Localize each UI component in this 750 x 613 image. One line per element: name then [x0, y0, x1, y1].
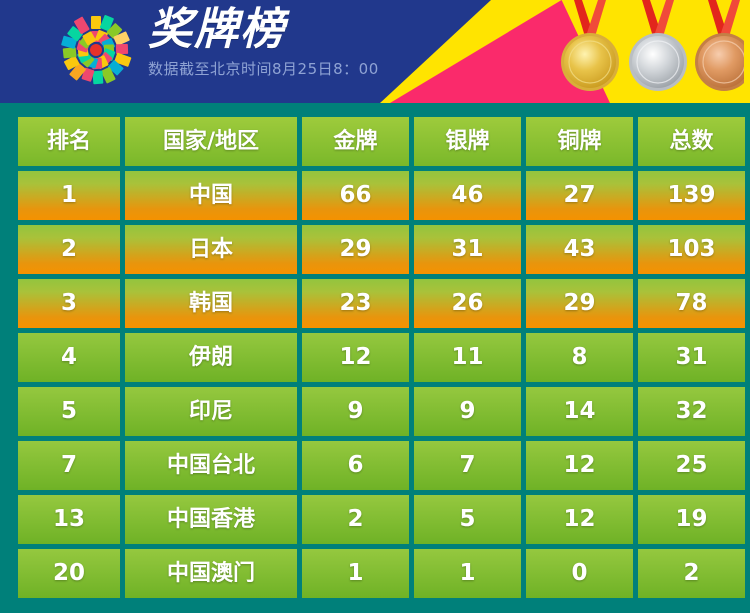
- cell-rank: 7: [18, 441, 120, 490]
- cell-gold: 12: [302, 333, 409, 382]
- medal-standings-page: 奖牌榜 数据截至北京时间8月25日8：00: [0, 0, 750, 589]
- cell-total: 25: [638, 441, 745, 490]
- cell-gold: 6: [302, 441, 409, 490]
- cell-bronze: 12: [526, 441, 633, 490]
- cell-silver: 7: [414, 441, 521, 490]
- table-row[interactable]: 3韩国23262978: [18, 279, 732, 328]
- cell-gold: 29: [302, 225, 409, 274]
- cell-rank: 5: [18, 387, 120, 436]
- cell-country: 中国: [125, 171, 297, 220]
- cell-total: 78: [638, 279, 745, 328]
- silver-medal: [629, 33, 687, 91]
- cell-total: 32: [638, 387, 745, 436]
- cell-country: 韩国: [125, 279, 297, 328]
- cell-bronze: 12: [526, 495, 633, 544]
- table-header-row: 排名 国家/地区 金牌 银牌 铜牌 总数: [18, 117, 732, 166]
- table-row[interactable]: 7中国台北671225: [18, 441, 732, 490]
- cell-silver: 11: [414, 333, 521, 382]
- table-row[interactable]: 4伊朗1211831: [18, 333, 732, 382]
- cell-total: 2: [638, 549, 745, 598]
- cell-total: 139: [638, 171, 745, 220]
- cell-country: 伊朗: [125, 333, 297, 382]
- cell-rank: 13: [18, 495, 120, 544]
- cell-silver: 31: [414, 225, 521, 274]
- table-row[interactable]: 20中国澳门1102: [18, 549, 732, 598]
- bronze-medal: [695, 33, 744, 91]
- cell-silver: 46: [414, 171, 521, 220]
- medals-illustration: [544, 0, 744, 96]
- page-title: 奖牌榜: [148, 4, 379, 56]
- column-header-gold: 金牌: [302, 117, 409, 166]
- column-header-silver: 银牌: [414, 117, 521, 166]
- cell-bronze: 0: [526, 549, 633, 598]
- cell-silver: 1: [414, 549, 521, 598]
- cell-total: 31: [638, 333, 745, 382]
- header-title-block: 奖牌榜 数据截至北京时间8月25日8：00: [148, 4, 379, 79]
- cell-silver: 26: [414, 279, 521, 328]
- cell-bronze: 27: [526, 171, 633, 220]
- cell-bronze: 8: [526, 333, 633, 382]
- table-row[interactable]: 5印尼991432: [18, 387, 732, 436]
- cell-gold: 23: [302, 279, 409, 328]
- table-row[interactable]: 1中国664627139: [18, 171, 732, 220]
- cell-gold: 1: [302, 549, 409, 598]
- column-header-total: 总数: [638, 117, 745, 166]
- cell-country: 日本: [125, 225, 297, 274]
- cell-gold: 66: [302, 171, 409, 220]
- cell-rank: 2: [18, 225, 120, 274]
- table-row[interactable]: 13中国香港251219: [18, 495, 732, 544]
- cell-silver: 5: [414, 495, 521, 544]
- cell-bronze: 14: [526, 387, 633, 436]
- cell-rank: 4: [18, 333, 120, 382]
- cell-silver: 9: [414, 387, 521, 436]
- cell-rank: 20: [18, 549, 120, 598]
- cell-country: 印尼: [125, 387, 297, 436]
- cell-gold: 9: [302, 387, 409, 436]
- table-row[interactable]: 2日本293143103: [18, 225, 732, 274]
- asian-games-sunburst-logo: [52, 6, 140, 94]
- table-body: 1中国6646271392日本2931431033韩国232629784伊朗12…: [18, 171, 732, 598]
- cell-total: 19: [638, 495, 745, 544]
- cell-country: 中国澳门: [125, 549, 297, 598]
- gold-medal: [561, 33, 619, 91]
- cell-country: 中国香港: [125, 495, 297, 544]
- data-timestamp-subtitle: 数据截至北京时间8月25日8：00: [148, 58, 379, 79]
- cell-rank: 1: [18, 171, 120, 220]
- cell-rank: 3: [18, 279, 120, 328]
- cell-bronze: 43: [526, 225, 633, 274]
- column-header-rank: 排名: [18, 117, 120, 166]
- cell-gold: 2: [302, 495, 409, 544]
- medal-table: 排名 国家/地区 金牌 银牌 铜牌 总数 1中国6646271392日本2931…: [0, 103, 750, 613]
- cell-total: 103: [638, 225, 745, 274]
- column-header-bronze: 铜牌: [526, 117, 633, 166]
- page-header: 奖牌榜 数据截至北京时间8月25日8：00: [0, 0, 750, 103]
- cell-bronze: 29: [526, 279, 633, 328]
- column-header-country: 国家/地区: [125, 117, 297, 166]
- cell-country: 中国台北: [125, 441, 297, 490]
